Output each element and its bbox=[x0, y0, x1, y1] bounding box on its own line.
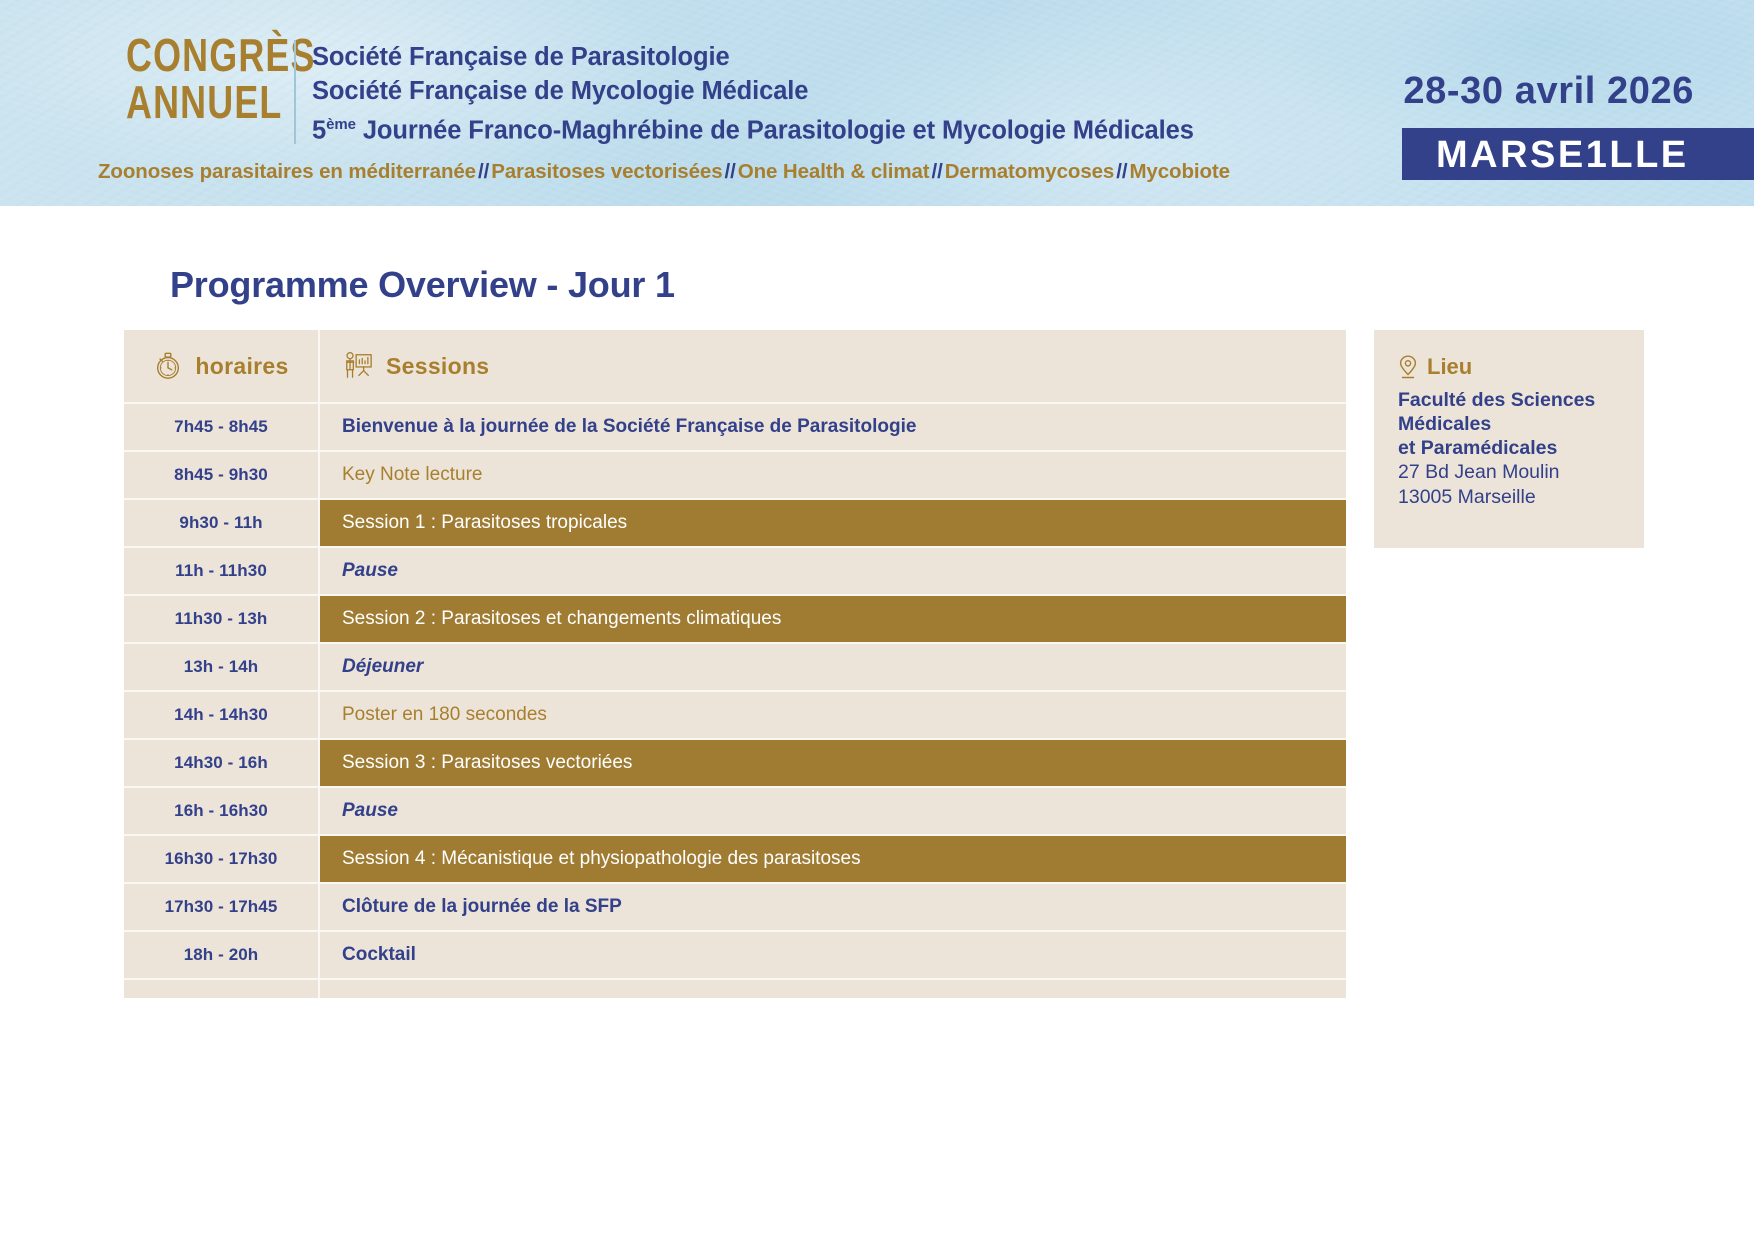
theme-item-4: Mycobiote bbox=[1129, 160, 1229, 183]
theme-item-2: One Health & climat bbox=[738, 160, 930, 183]
table-row[interactable]: 11h - 11h30 Pause bbox=[124, 548, 1346, 596]
row-session: Bienvenue à la journée de la Société Fra… bbox=[320, 404, 1346, 450]
row-time: 11h30 - 13h bbox=[124, 596, 320, 642]
table-row[interactable]: 14h30 - 16h Session 3 : Parasitoses vect… bbox=[124, 740, 1346, 788]
column-header-horaires-label: horaires bbox=[195, 353, 288, 380]
logo-line-annuel: ANNUEL bbox=[126, 79, 282, 126]
table-row[interactable]: 13h - 14h Déjeuner bbox=[124, 644, 1346, 692]
table-row[interactable]: 18h - 20h Cocktail bbox=[124, 932, 1346, 980]
column-header-horaires: horaires bbox=[124, 330, 320, 402]
table-row[interactable]: 14h - 14h30 Poster en 180 secondes bbox=[124, 692, 1346, 740]
table-footer-time-cell bbox=[124, 980, 320, 998]
row-session: Key Note lecture bbox=[320, 452, 1346, 498]
theme-sep-0: // bbox=[476, 160, 491, 183]
logo-line-congres: CONGRÈS bbox=[126, 32, 282, 79]
table-row[interactable]: 9h30 - 11h Session 1 : Parasitoses tropi… bbox=[124, 500, 1346, 548]
row-session: Clôture de la journée de la SFP bbox=[320, 884, 1346, 930]
theme-sep-3: // bbox=[1114, 160, 1129, 183]
theme-sep-2: // bbox=[930, 160, 945, 183]
theme-item-3: Dermatomycoses bbox=[945, 160, 1115, 183]
row-session-highlight: Session 2 : Parasitoses et changements c… bbox=[320, 596, 1346, 642]
theme-list: Zoonoses parasitaires en méditerranée//P… bbox=[98, 160, 1230, 184]
journee-rest: Journée Franco-Maghrébine de Parasitolog… bbox=[356, 117, 1194, 145]
row-session: Pause bbox=[320, 548, 1346, 594]
logo-divider bbox=[294, 40, 296, 144]
row-time: 16h30 - 17h30 bbox=[124, 836, 320, 882]
venue-name-line-3: et Paramédicales bbox=[1398, 436, 1620, 460]
society-titles: Société Française de Parasitologie Socié… bbox=[312, 40, 1194, 148]
congress-logo: CONGRÈS ANNUEL bbox=[82, 32, 282, 126]
programme-table: horaires Sessions 7h45 - 8h45 bbox=[124, 330, 1346, 998]
row-session: Poster en 180 secondes bbox=[320, 692, 1346, 738]
venue-street: 27 Bd Jean Moulin bbox=[1398, 460, 1620, 485]
row-session-highlight: Session 1 : Parasitoses tropicales bbox=[320, 500, 1346, 546]
theme-item-0: Zoonoses parasitaires en méditerranée bbox=[98, 160, 476, 183]
row-session-highlight: Session 3 : Parasitoses vectoriées bbox=[320, 740, 1346, 786]
journee-ordinal-suffix: ème bbox=[326, 116, 356, 133]
theme-item-1: Parasitoses vectorisées bbox=[491, 160, 722, 183]
table-row[interactable]: 17h30 - 17h45 Clôture de la journée de l… bbox=[124, 884, 1346, 932]
row-time: 18h - 20h bbox=[124, 932, 320, 978]
society-title-1: Société Française de Parasitologie bbox=[312, 40, 1194, 74]
theme-sep-1: // bbox=[723, 160, 738, 183]
row-session-highlight: Session 4 : Mécanistique et physiopathol… bbox=[320, 836, 1346, 882]
table-footer-strip bbox=[124, 980, 1346, 998]
society-title-2: Société Française de Mycologie Médicale bbox=[312, 74, 1194, 108]
row-time: 13h - 14h bbox=[124, 644, 320, 690]
table-footer-session-cell bbox=[320, 980, 1346, 1026]
map-pin-icon bbox=[1398, 354, 1418, 380]
column-header-sessions-label: Sessions bbox=[386, 353, 489, 380]
row-time: 7h45 - 8h45 bbox=[124, 404, 320, 450]
row-time: 8h45 - 9h30 bbox=[124, 452, 320, 498]
stopwatch-icon bbox=[153, 351, 183, 381]
venue-heading-label: Lieu bbox=[1427, 354, 1472, 380]
row-session: Pause bbox=[320, 788, 1346, 834]
venue-name-line-1: Faculté des Sciences bbox=[1398, 388, 1620, 412]
table-row[interactable]: 11h30 - 13h Session 2 : Parasitoses et c… bbox=[124, 596, 1346, 644]
venue-name-line-2: Médicales bbox=[1398, 412, 1620, 436]
column-header-sessions: Sessions bbox=[320, 330, 1346, 402]
presenter-board-icon bbox=[342, 351, 374, 381]
city-name: MARSE1LLE bbox=[1436, 134, 1689, 177]
row-session: Cocktail bbox=[320, 932, 1346, 978]
society-title-3: 5ème Journée Franco-Maghrébine de Parasi… bbox=[312, 108, 1194, 148]
row-time: 11h - 11h30 bbox=[124, 548, 320, 594]
journee-number: 5 bbox=[312, 117, 326, 145]
table-header-row: horaires Sessions bbox=[124, 330, 1346, 404]
row-time: 17h30 - 17h45 bbox=[124, 884, 320, 930]
venue-city: 13005 Marseille bbox=[1398, 485, 1620, 510]
row-time: 14h30 - 16h bbox=[124, 740, 320, 786]
row-session: Déjeuner bbox=[320, 644, 1346, 690]
venue-box: Lieu Faculté des Sciences Médicales et P… bbox=[1374, 330, 1644, 548]
table-row[interactable]: 16h30 - 17h30 Session 4 : Mécanistique e… bbox=[124, 836, 1346, 884]
row-time: 9h30 - 11h bbox=[124, 500, 320, 546]
table-row[interactable]: 16h - 16h30 Pause bbox=[124, 788, 1346, 836]
table-row[interactable]: 7h45 - 8h45 Bienvenue à la journée de la… bbox=[124, 404, 1346, 452]
row-time: 16h - 16h30 bbox=[124, 788, 320, 834]
row-time: 14h - 14h30 bbox=[124, 692, 320, 738]
page-title: Programme Overview - Jour 1 bbox=[170, 264, 675, 306]
page-header: CONGRÈS ANNUEL Société Française de Para… bbox=[0, 0, 1754, 206]
congress-dates: 28-30 avril 2026 bbox=[1403, 70, 1694, 113]
city-banner: MARSE1LLE bbox=[1402, 128, 1754, 180]
table-row[interactable]: 8h45 - 9h30 Key Note lecture bbox=[124, 452, 1346, 500]
venue-heading: Lieu bbox=[1398, 354, 1620, 380]
